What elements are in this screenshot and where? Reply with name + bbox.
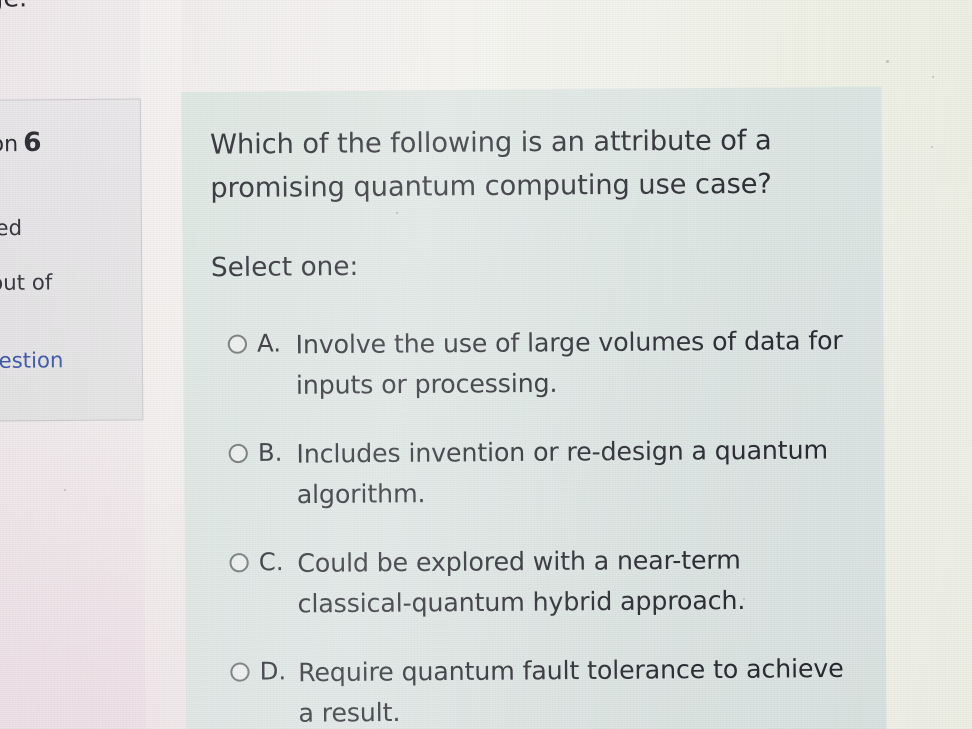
- answer-text-b: Includes invention or re-design a quantu…: [296, 430, 850, 514]
- radio-button-icon-a[interactable]: [228, 335, 247, 354]
- screenshot-root: ge. Question6 Not yet answered Points ou…: [0, 0, 972, 729]
- answer-option-d[interactable]: D. Require quantum fault tolerance to ac…: [214, 649, 852, 729]
- question-number-heading: Question6: [0, 128, 126, 159]
- question-panel: Which of the following is an attribute o…: [181, 87, 887, 729]
- question-label: Question: [0, 132, 18, 158]
- flag-question-link[interactable]: Flag question: [0, 349, 64, 374]
- answer-text-c: Could be explored with a near-term class…: [297, 540, 851, 624]
- radio-button-icon-b[interactable]: [229, 444, 248, 463]
- answer-letter-a: A.: [257, 325, 296, 358]
- answer-letter-d: D.: [260, 653, 299, 686]
- radio-button-icon-d[interactable]: [230, 663, 249, 682]
- answer-option-a[interactable]: A. Involve the use of large volumes of d…: [211, 321, 849, 406]
- select-one-prompt: Select one:: [211, 248, 849, 283]
- page-content: ge. Question6 Not yet answered Points ou…: [0, 0, 972, 729]
- answer-text-a: Involve the use of large volumes of data…: [295, 321, 849, 405]
- question-marks: Points out of 1.00: [0, 267, 127, 327]
- answer-option-b[interactable]: B. Includes invention or re-design a qua…: [212, 430, 850, 515]
- question-info-box: Question6 Not yet answered Points out of…: [0, 99, 143, 423]
- answer-options-list: A. Involve the use of large volumes of d…: [211, 321, 852, 729]
- answer-letter-b: B.: [258, 435, 297, 468]
- radio-button-icon-c[interactable]: [229, 553, 248, 572]
- clipped-top-text: ge.: [0, 0, 27, 13]
- answer-option-c[interactable]: C. Could be explored with a near-term cl…: [213, 540, 851, 625]
- answer-text-d: Require quantum fault tolerance to achie…: [298, 649, 852, 729]
- question-status: Not yet answered: [0, 183, 127, 243]
- question-number: 6: [23, 128, 42, 159]
- page-gutter: [140, 0, 187, 729]
- answer-letter-c: C.: [259, 544, 298, 577]
- question-text: Which of the following is an attribute o…: [210, 119, 848, 210]
